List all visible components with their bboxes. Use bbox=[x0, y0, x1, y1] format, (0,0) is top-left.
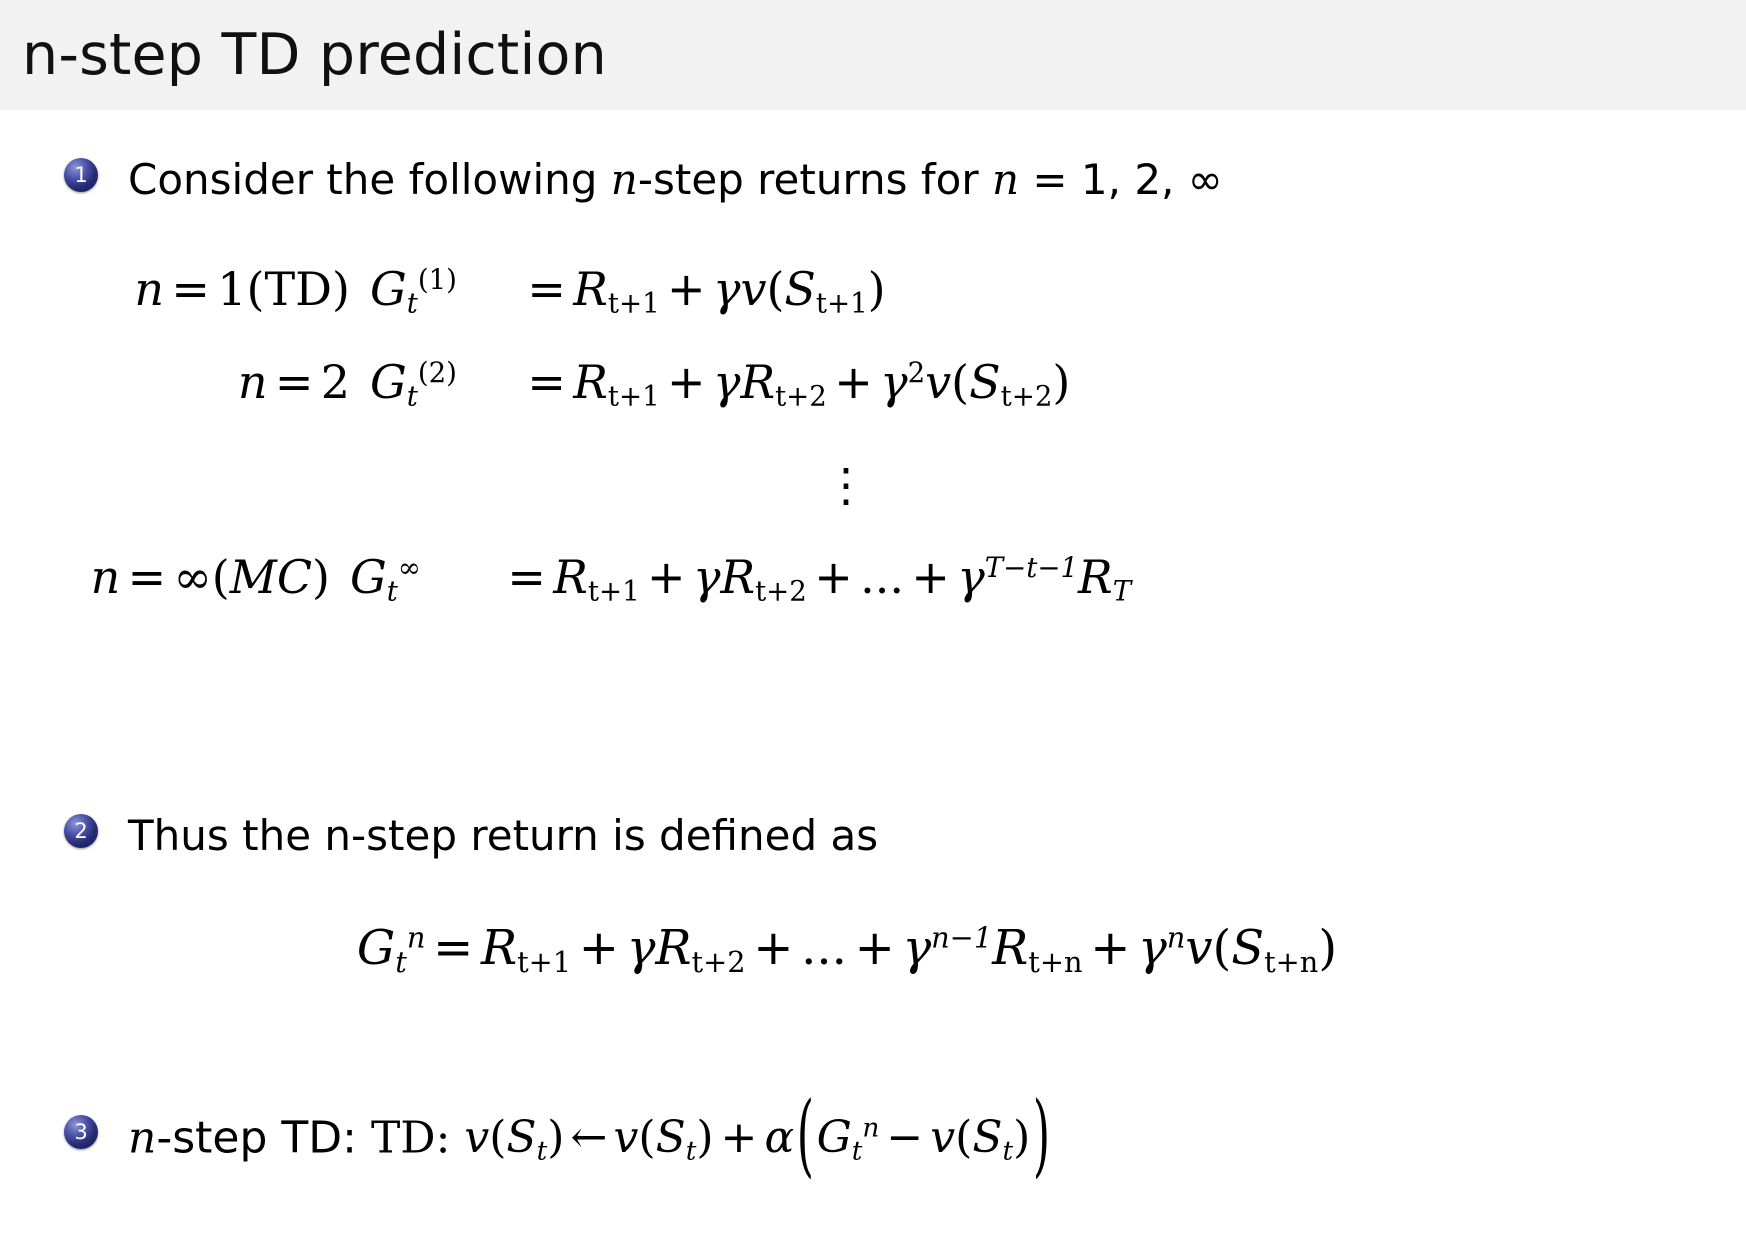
sym3-G: G bbox=[350, 550, 387, 604]
cond-n: n bbox=[134, 262, 164, 316]
rhs2-gamma-exp: 2 bbox=[908, 356, 926, 389]
rhs3-gamma-exp: T−t−1 bbox=[985, 551, 1078, 584]
eqn-S-sub: t+n bbox=[1264, 945, 1318, 979]
eqn-R3: R bbox=[992, 920, 1028, 976]
eqn-ldots: ... bbox=[801, 920, 847, 976]
rhs3-gamma2: γ bbox=[957, 550, 985, 604]
rhs3-R1: R bbox=[553, 550, 588, 604]
upd-minus: − bbox=[879, 1112, 930, 1163]
td-update-equation: v(St)←v(St)+α(Gtn−v(St)) bbox=[464, 1112, 1052, 1163]
eqn-R2-sub: t+2 bbox=[692, 945, 746, 979]
sym-G: G bbox=[370, 262, 407, 316]
eqn-S: S bbox=[1231, 920, 1264, 976]
symbol-n-italic-2: n bbox=[992, 155, 1019, 204]
upd-v2: v bbox=[614, 1112, 639, 1163]
symbol-n-italic: n bbox=[611, 155, 638, 204]
list-item-1: 1 Consider the following n-step returns … bbox=[64, 158, 1223, 203]
rhs2-paren-close: ) bbox=[1052, 355, 1070, 409]
nstep-td-n: n bbox=[128, 1112, 156, 1163]
rhs-S: S bbox=[784, 262, 816, 316]
sym-sub-t: t bbox=[407, 287, 418, 320]
upd-G-sub: t bbox=[852, 1136, 863, 1167]
eqn-sub-t: t bbox=[395, 945, 407, 979]
sym3-sup-inf: ∞ bbox=[398, 551, 421, 584]
enumerate-bullet-3: 3 bbox=[64, 1115, 98, 1149]
cond3-paren-close: ) bbox=[312, 550, 330, 604]
sym2-sup-2: (2) bbox=[418, 356, 457, 389]
eqn-R3-sub: t+n bbox=[1028, 945, 1082, 979]
rhs3-gamma1: γ bbox=[693, 550, 721, 604]
consider-middle: -step returns for bbox=[638, 155, 992, 204]
upd-plus: + bbox=[714, 1112, 765, 1163]
eqn-gamma2: γ bbox=[902, 920, 931, 976]
cond2-value: 2 bbox=[321, 355, 350, 409]
upd-v1: v bbox=[464, 1112, 489, 1163]
eqn-R1-sub: t+1 bbox=[517, 945, 571, 979]
eqn-plus2: + bbox=[746, 920, 802, 976]
slide-header: n-step TD prediction bbox=[0, 0, 1746, 110]
cond-equals: = bbox=[164, 262, 217, 316]
rhs-sub-t1b: t+1 bbox=[816, 287, 868, 320]
rhs-paren-open: ( bbox=[766, 262, 784, 316]
sym2-G: G bbox=[370, 355, 407, 409]
eqn-sup-n: n bbox=[407, 920, 426, 954]
upd-S1-sub: t bbox=[537, 1136, 548, 1167]
upd-S3-sub: t bbox=[1002, 1136, 1013, 1167]
nstep-td-tdlabel: TD: bbox=[371, 1112, 464, 1163]
equation-row-ninf: n=∞(MC) Gt∞ =Rt+1+γRt+2+...+γT−t−1RT bbox=[10, 550, 1131, 608]
upd-alpha: α bbox=[764, 1112, 794, 1163]
rhs2-v: v bbox=[925, 355, 951, 409]
consider-prefix: Consider the following bbox=[128, 155, 611, 204]
rhs-gamma: γ bbox=[713, 262, 741, 316]
rhs-paren-close: ) bbox=[868, 262, 886, 316]
equation-symbol-ninf: Gt∞ bbox=[330, 550, 500, 608]
upd-S2-sub: t bbox=[686, 1136, 697, 1167]
enumerate-bullet-2: 2 bbox=[64, 814, 98, 848]
upd-p3: ( bbox=[638, 1112, 655, 1163]
equation-rhs-n1: =Rt+1+γv(St+1) bbox=[520, 262, 886, 320]
upd-p6: ) bbox=[1013, 1112, 1030, 1163]
rhs-R: R bbox=[573, 262, 608, 316]
rhs3-equals: = bbox=[500, 550, 553, 604]
upd-arrow: ← bbox=[564, 1112, 613, 1163]
sym-sup-1: (1) bbox=[418, 263, 457, 296]
slide-body: 1 Consider the following n-step returns … bbox=[0, 110, 1746, 1256]
rhs3-ldots: ... bbox=[860, 550, 904, 604]
upd-S3: S bbox=[972, 1112, 1002, 1163]
list-item-1-label: Consider the following n-step returns fo… bbox=[128, 158, 1223, 203]
eqn-R1: R bbox=[481, 920, 517, 976]
equation-rhs-n2: =Rt+1+γRt+2+γ2v(St+2) bbox=[520, 355, 1070, 413]
upd-S2: S bbox=[656, 1112, 686, 1163]
eqn-R2: R bbox=[655, 920, 691, 976]
equation-rhs-ninf: =Rt+1+γRt+2+...+γT−t−1RT bbox=[500, 550, 1131, 608]
enumerate-bullet-1: 1 bbox=[64, 158, 98, 192]
equation-symbol-n1: Gt(1) bbox=[350, 262, 520, 320]
cond3-infty: ∞ bbox=[173, 550, 211, 604]
rhs2-gamma2: γ bbox=[880, 355, 908, 409]
rhs3-plus2: + bbox=[807, 550, 860, 604]
rhs3-R2: R bbox=[720, 550, 755, 604]
rhs2-paren-open: ( bbox=[951, 355, 969, 409]
rhs2-S: S bbox=[969, 355, 1001, 409]
cond3-mc: MC bbox=[230, 550, 312, 604]
equation-n-step-return: Gtn=Rt+1+γRt+2+...+γn−1Rt+n+γnv(St+n) bbox=[0, 920, 1720, 979]
rhs2-plus2: + bbox=[827, 355, 880, 409]
rhs-sub-t1: t+1 bbox=[608, 287, 660, 320]
eqn-equals: = bbox=[425, 920, 481, 976]
rhs2-R2: R bbox=[740, 355, 775, 409]
eqn-plus3: + bbox=[847, 920, 903, 976]
cond2-equals: = bbox=[267, 355, 320, 409]
rhs-v: v bbox=[740, 262, 766, 316]
list-item-2: 2 Thus the n-step return is defined as bbox=[64, 814, 878, 859]
rhs2-S-sub: t+2 bbox=[1001, 380, 1053, 413]
sym3-sub-t: t bbox=[387, 575, 398, 608]
upd-G-sup: n bbox=[862, 1113, 879, 1144]
rhs3-R-sub-T: T bbox=[1113, 575, 1131, 608]
equation-condition-n2: n=2 bbox=[30, 355, 350, 409]
equation-row-n1: n=1(TD) Gt(1) =Rt+1+γv(St+1) bbox=[30, 262, 886, 320]
upd-v3: v bbox=[930, 1112, 955, 1163]
upd-G: G bbox=[817, 1112, 852, 1163]
eqn-G: G bbox=[357, 920, 395, 976]
equation-condition-ninf: n=∞(MC) bbox=[10, 550, 330, 604]
eqn-gamma1: γ bbox=[627, 920, 656, 976]
eqn-v: v bbox=[1185, 920, 1212, 976]
eqn-plus4: + bbox=[1083, 920, 1139, 976]
rhs3-sub-t2: t+2 bbox=[755, 575, 807, 608]
rhs3-plus3: + bbox=[904, 550, 957, 604]
equation-condition-n1: n=1(TD) bbox=[30, 262, 350, 316]
cond3-n: n bbox=[91, 550, 121, 604]
eqn-paren-close: ) bbox=[1318, 920, 1337, 976]
page-title: n-step TD prediction bbox=[0, 27, 607, 84]
consider-suffix: = 1, 2, ∞ bbox=[1019, 155, 1223, 204]
equation-symbol-n2: Gt(2) bbox=[350, 355, 520, 413]
cond2-n: n bbox=[238, 355, 268, 409]
rhs2-plus1: + bbox=[660, 355, 713, 409]
eqn-gamma2-exp: n−1 bbox=[931, 920, 992, 954]
equation-row-n2: n=2 Gt(2) =Rt+1+γRt+2+γ2v(St+2) bbox=[30, 355, 1070, 413]
list-item-3: 3 n-step TD: TD: v(St)←v(St)+α(Gtn−v(St)… bbox=[64, 1115, 1053, 1166]
rhs2-sub-t2: t+2 bbox=[775, 380, 827, 413]
rhs3-sub-t1: t+1 bbox=[588, 575, 640, 608]
rhs2-sub-t1: t+1 bbox=[608, 380, 660, 413]
list-item-2-label: Thus the n-step return is defined as bbox=[128, 814, 878, 859]
cond3-paren-open: ( bbox=[212, 550, 230, 604]
nstep-td-prefix: -step TD: bbox=[156, 1112, 371, 1163]
upd-bigparen-open: ( bbox=[794, 1090, 816, 1186]
rhs2-equals: = bbox=[520, 355, 573, 409]
rhs-plus: + bbox=[660, 262, 713, 316]
upd-p1: ( bbox=[489, 1112, 506, 1163]
eqn-plus1: + bbox=[571, 920, 627, 976]
sym2-sub-t: t bbox=[407, 380, 418, 413]
cond-value: 1(TD) bbox=[217, 262, 350, 316]
cond3-equals: = bbox=[120, 550, 173, 604]
eqn-gamma3: γ bbox=[1138, 920, 1167, 976]
rhs-equals: = bbox=[520, 262, 573, 316]
list-item-3-label: n-step TD: TD: v(St)←v(St)+α(Gtn−v(St)) bbox=[128, 1115, 1053, 1166]
eqn-gamma3-exp: n bbox=[1167, 920, 1186, 954]
upd-p4: ) bbox=[696, 1112, 713, 1163]
rhs2-R1: R bbox=[573, 355, 608, 409]
upd-bigparen-close: ) bbox=[1030, 1090, 1052, 1186]
rhs3-R3: R bbox=[1078, 550, 1113, 604]
rhs3-plus1: + bbox=[640, 550, 693, 604]
upd-p2: ) bbox=[547, 1112, 564, 1163]
eqn-paren-open: ( bbox=[1212, 920, 1231, 976]
upd-S1: S bbox=[506, 1112, 536, 1163]
upd-p5: ( bbox=[955, 1112, 972, 1163]
vertical-ellipsis: ⋮ bbox=[823, 462, 869, 508]
rhs2-gamma1: γ bbox=[713, 355, 741, 409]
